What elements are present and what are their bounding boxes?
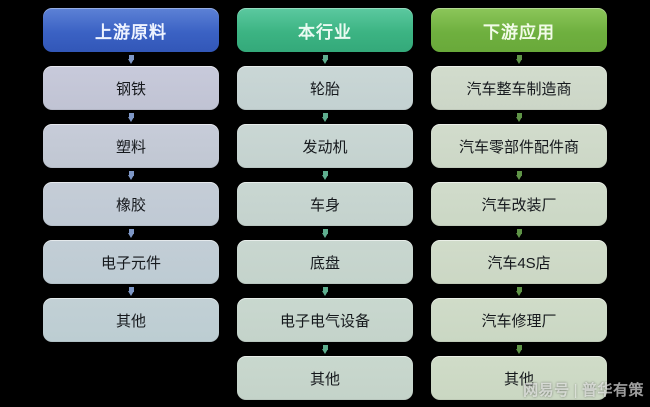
column-header-upstream[interactable]: 上游原料 <box>43 8 219 52</box>
column-header-downstream[interactable]: 下游应用 <box>431 8 607 52</box>
column-header-industry[interactable]: 本行业 <box>237 8 413 52</box>
arrow-down-icon <box>43 110 219 124</box>
list-item[interactable]: 汽车4S店 <box>431 240 607 284</box>
arrow-down-icon <box>431 110 607 124</box>
list-item[interactable]: 汽车整车制造商 <box>431 66 607 110</box>
column-industry: 本行业 轮胎 发动机 车身 底盘 电子电气设备 其他 <box>237 0 413 407</box>
watermark-platform: 网易号 <box>523 382 570 399</box>
watermark-separator: | <box>574 382 578 399</box>
arrow-down-icon <box>43 168 219 182</box>
arrow-down-icon <box>431 284 607 298</box>
list-item[interactable]: 电子电气设备 <box>237 298 413 342</box>
supply-chain-diagram: 上游原料 钢铁 塑料 橡胶 电子元件 其他 本行业 轮胎 发动机 车身 底盘 电… <box>0 0 650 407</box>
list-item[interactable]: 发动机 <box>237 124 413 168</box>
list-item[interactable]: 轮胎 <box>237 66 413 110</box>
arrow-down-icon <box>43 52 219 66</box>
list-item[interactable]: 橡胶 <box>43 182 219 226</box>
list-item[interactable]: 车身 <box>237 182 413 226</box>
arrow-down-icon <box>431 342 607 356</box>
list-item[interactable]: 钢铁 <box>43 66 219 110</box>
arrow-down-icon <box>431 52 607 66</box>
list-item[interactable]: 其他 <box>43 298 219 342</box>
list-item[interactable]: 汽车修理厂 <box>431 298 607 342</box>
arrow-down-icon <box>237 284 413 298</box>
list-item[interactable]: 电子元件 <box>43 240 219 284</box>
list-item[interactable]: 汽车改装厂 <box>431 182 607 226</box>
arrow-down-icon <box>237 110 413 124</box>
column-downstream: 下游应用 汽车整车制造商 汽车零部件配件商 汽车改装厂 汽车4S店 汽车修理厂 … <box>431 0 607 407</box>
list-item[interactable]: 其他 <box>237 356 413 400</box>
arrow-down-icon <box>43 226 219 240</box>
arrow-down-icon <box>43 284 219 298</box>
column-upstream: 上游原料 钢铁 塑料 橡胶 电子元件 其他 <box>43 0 219 407</box>
arrow-down-icon <box>237 226 413 240</box>
arrow-down-icon <box>431 226 607 240</box>
arrow-down-icon <box>237 52 413 66</box>
list-item[interactable]: 塑料 <box>43 124 219 168</box>
watermark: 网易号|普华有策 <box>523 379 644 400</box>
watermark-author: 普华有策 <box>582 382 644 399</box>
list-item[interactable]: 汽车零部件配件商 <box>431 124 607 168</box>
arrow-down-icon <box>237 168 413 182</box>
arrow-down-icon <box>237 342 413 356</box>
list-item[interactable]: 底盘 <box>237 240 413 284</box>
arrow-down-icon <box>431 168 607 182</box>
